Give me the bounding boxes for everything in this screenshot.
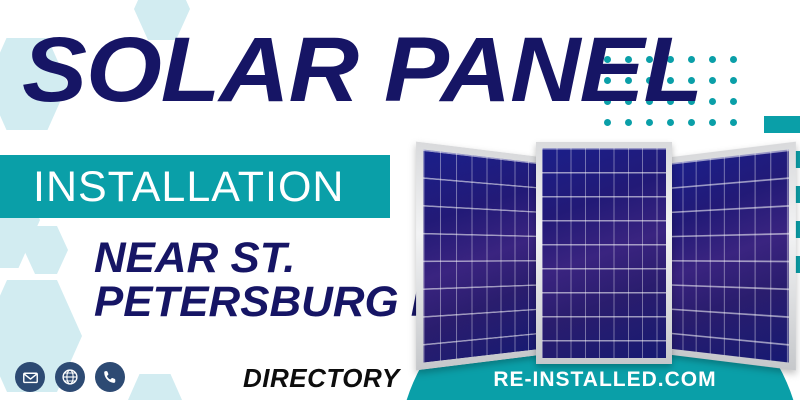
contact-icon-row bbox=[15, 362, 125, 392]
dot-decor bbox=[730, 56, 737, 63]
installation-label: INSTALLATION bbox=[33, 159, 383, 215]
solar-panel-banner: SOLAR PANEL INSTALLATION NEAR ST. PETERS… bbox=[0, 0, 800, 400]
website-icon[interactable] bbox=[55, 362, 85, 392]
dot-decor bbox=[730, 98, 737, 105]
dot-decor bbox=[730, 119, 737, 126]
solar-panel-left bbox=[416, 142, 548, 371]
phone-icon[interactable] bbox=[95, 362, 125, 392]
site-url-label: RE-INSTALLED.COM bbox=[440, 368, 770, 392]
dot-decor bbox=[709, 56, 716, 63]
stripe-decor bbox=[764, 116, 800, 133]
solar-panel-artwork bbox=[420, 142, 780, 372]
solar-panel-center bbox=[536, 142, 672, 364]
location-subtitle-line1: NEAR ST. bbox=[94, 236, 464, 280]
hexagon-decor-small bbox=[24, 226, 68, 274]
dot-decor bbox=[709, 98, 716, 105]
dot-decor bbox=[709, 119, 716, 126]
page-title: SOLAR PANEL bbox=[22, 24, 702, 116]
location-subtitle-line2: PETERSBURG FL bbox=[94, 280, 464, 324]
dot-decor bbox=[730, 77, 737, 84]
directory-label: DIRECTORY bbox=[243, 363, 400, 394]
dot-decor bbox=[709, 77, 716, 84]
hexagon-decor-bottom bbox=[124, 374, 186, 400]
solar-panel-right bbox=[664, 142, 796, 371]
email-icon[interactable] bbox=[15, 362, 45, 392]
location-subtitle: NEAR ST. PETERSBURG FL bbox=[94, 236, 464, 324]
